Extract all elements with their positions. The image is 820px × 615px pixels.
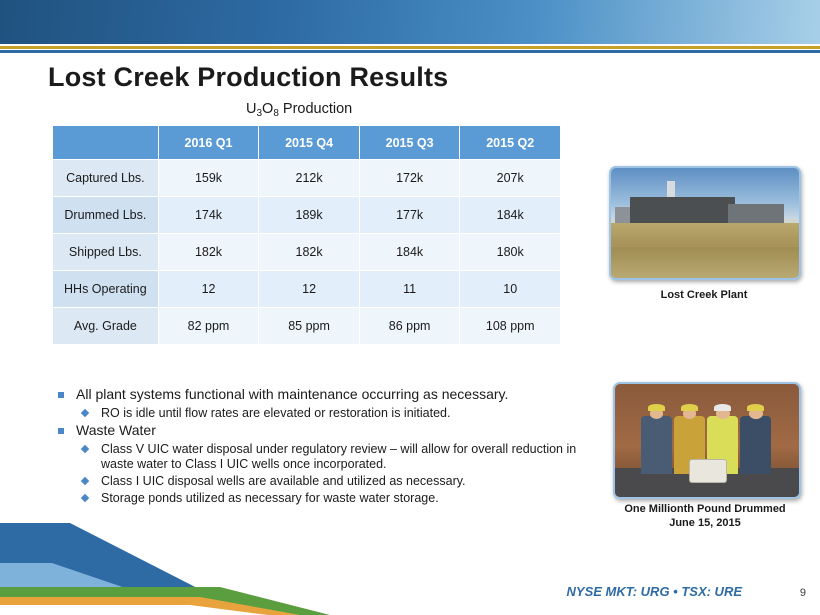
cell-grade-2015q3: 86 ppm: [359, 308, 460, 345]
cell-hhs-2016q1: 12: [158, 271, 259, 308]
cell-captured-2016q1: 159k: [158, 160, 259, 197]
cell-captured-2015q4: 212k: [259, 160, 360, 197]
row-label-drummed-lbs: Drummed Lbs.: [53, 197, 159, 234]
production-results-table: 2016 Q1 2015 Q4 2015 Q3 2015 Q2 Captured…: [52, 125, 561, 345]
bullet-text: All plant systems functional with mainte…: [76, 386, 508, 402]
banner-blue-rule: [0, 50, 820, 53]
cell-captured-2015q2: 207k: [460, 160, 561, 197]
table-row: HHs Operating 12 12 11 10: [53, 271, 561, 308]
bullet-ro-idle: RO is idle until flow rates are elevated…: [52, 406, 608, 422]
one-millionth-pound-photo: [613, 382, 801, 499]
photo-hardhat: [714, 404, 732, 411]
table-caption-production: Production: [279, 101, 352, 117]
photo-hardhat: [681, 404, 699, 411]
bullet-text: Class I UIC disposal wells are available…: [101, 474, 466, 488]
column-header-2016-q1: 2016 Q1: [158, 126, 259, 160]
table-caption-sub3: 3: [256, 108, 262, 119]
table-row: Shipped Lbs. 182k 182k 184k 180k: [53, 234, 561, 271]
cell-hhs-2015q3: 11: [359, 271, 460, 308]
cell-shipped-2015q4: 182k: [259, 234, 360, 271]
row-label-captured-lbs: Captured Lbs.: [53, 160, 159, 197]
photo-drum-object: [689, 459, 728, 484]
table-caption: U3O8 Production: [246, 101, 352, 117]
cell-shipped-2016q1: 182k: [158, 234, 259, 271]
lost-creek-plant-photo: [609, 166, 801, 280]
cell-drummed-2015q2: 184k: [460, 197, 561, 234]
page-number: 9: [800, 587, 806, 599]
diamond-bullet-icon: [81, 408, 89, 416]
table-corner-cell: [53, 126, 159, 160]
photo-building-right: [728, 204, 784, 224]
table-caption-sub8: 8: [273, 108, 279, 119]
cell-grade-2016q1: 82 ppm: [158, 308, 259, 345]
cell-grade-2015q4: 85 ppm: [259, 308, 360, 345]
cell-shipped-2015q3: 184k: [359, 234, 460, 271]
table-body: Captured Lbs. 159k 212k 172k 207k Drumme…: [53, 160, 561, 345]
row-label-hhs-operating: HHs Operating: [53, 271, 159, 308]
cell-hhs-2015q2: 10: [460, 271, 561, 308]
photo-person-1: [641, 416, 672, 475]
photo-building-main: [630, 197, 735, 226]
bullet-text: Class V UIC water disposal under regulat…: [101, 442, 576, 472]
table-row: Drummed Lbs. 174k 189k 177k 184k: [53, 197, 561, 234]
column-header-2015-q2: 2015 Q2: [460, 126, 561, 160]
row-label-avg-grade: Avg. Grade: [53, 308, 159, 345]
top-banner: [0, 0, 820, 44]
cell-drummed-2015q3: 177k: [359, 197, 460, 234]
square-bullet-icon: [58, 428, 64, 434]
lost-creek-plant-caption: Lost Creek Plant: [609, 289, 799, 303]
cell-drummed-2016q1: 174k: [158, 197, 259, 234]
bullet-text: RO is idle until flow rates are elevated…: [101, 406, 450, 420]
photo-hardhat: [747, 404, 765, 411]
cell-shipped-2015q2: 180k: [460, 234, 561, 271]
table-header-row: 2016 Q1 2015 Q4 2015 Q3 2015 Q2: [53, 126, 561, 160]
bullet-text: Storage ponds utilized as necessary for …: [101, 491, 439, 505]
bullet-class-i-uic: Class I UIC disposal wells are available…: [52, 474, 608, 490]
row-label-shipped-lbs: Shipped Lbs.: [53, 234, 159, 271]
table-caption-o: O: [262, 101, 273, 117]
cell-drummed-2015q4: 189k: [259, 197, 360, 234]
page-title: Lost Creek Production Results: [48, 62, 448, 93]
bullet-storage-ponds: Storage ponds utilized as necessary for …: [52, 491, 608, 507]
photo-hardhat: [648, 404, 666, 411]
cell-hhs-2015q4: 12: [259, 271, 360, 308]
bullet-waste-water: Waste Water: [52, 422, 608, 440]
cell-grade-2015q2: 108 ppm: [460, 308, 561, 345]
square-bullet-icon: [58, 392, 64, 398]
table-head: 2016 Q1 2015 Q4 2015 Q3 2015 Q2: [53, 126, 561, 160]
bullet-plant-systems: All plant systems functional with mainte…: [52, 386, 608, 404]
footer-ticker: NYSE MKT: URG • TSX: URE: [567, 584, 742, 599]
banner-gold-rule: [0, 46, 820, 49]
diamond-bullet-icon: [81, 444, 89, 452]
table-row: Captured Lbs. 159k 212k 172k 207k: [53, 160, 561, 197]
bullet-list: All plant systems functional with mainte…: [52, 386, 608, 507]
cell-captured-2015q3: 172k: [359, 160, 460, 197]
table-row: Avg. Grade 82 ppm 85 ppm 86 ppm 108 ppm: [53, 308, 561, 345]
bullet-text: Waste Water: [76, 422, 156, 438]
bullet-class-v-uic: Class V UIC water disposal under regulat…: [52, 442, 608, 473]
diamond-bullet-icon: [81, 493, 89, 501]
photo-person-4: [740, 416, 771, 475]
column-header-2015-q3: 2015 Q3: [359, 126, 460, 160]
table-caption-u: U: [246, 101, 256, 117]
photo-grass: [611, 247, 799, 278]
column-header-2015-q4: 2015 Q4: [259, 126, 360, 160]
diamond-bullet-icon: [81, 477, 89, 485]
